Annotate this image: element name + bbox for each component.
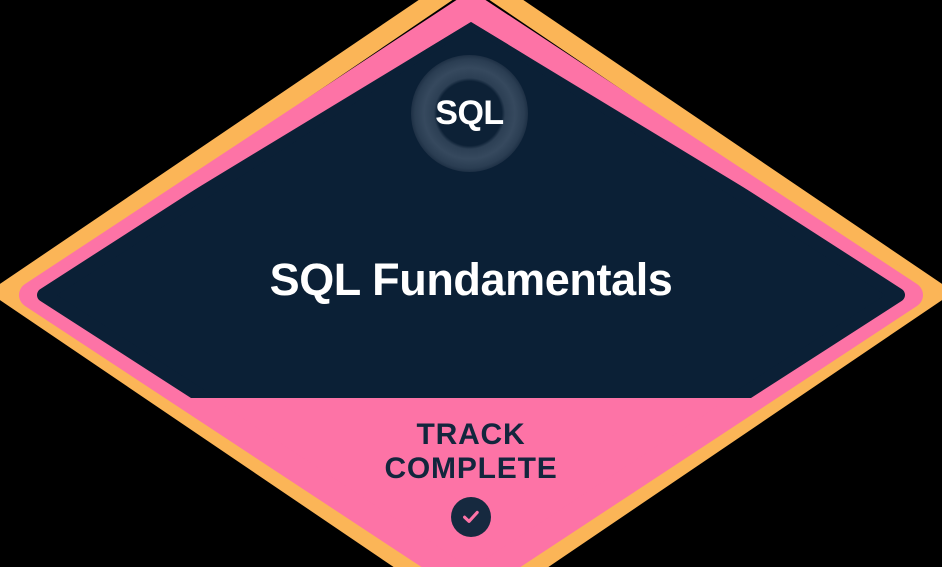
track-status: TRACK COMPLETE xyxy=(0,418,942,537)
track-title: SQL Fundamentals xyxy=(0,255,942,305)
status-line-complete: COMPLETE xyxy=(0,452,942,486)
status-line-track: TRACK xyxy=(0,418,942,452)
track-completion-badge: SQL SQL Fundamentals TRACK COMPLETE xyxy=(0,0,942,567)
sql-logo-icon: SQL xyxy=(411,55,528,172)
check-icon xyxy=(451,497,491,537)
check-mark-glyph xyxy=(460,506,482,528)
sql-logo-label: SQL xyxy=(435,96,503,130)
